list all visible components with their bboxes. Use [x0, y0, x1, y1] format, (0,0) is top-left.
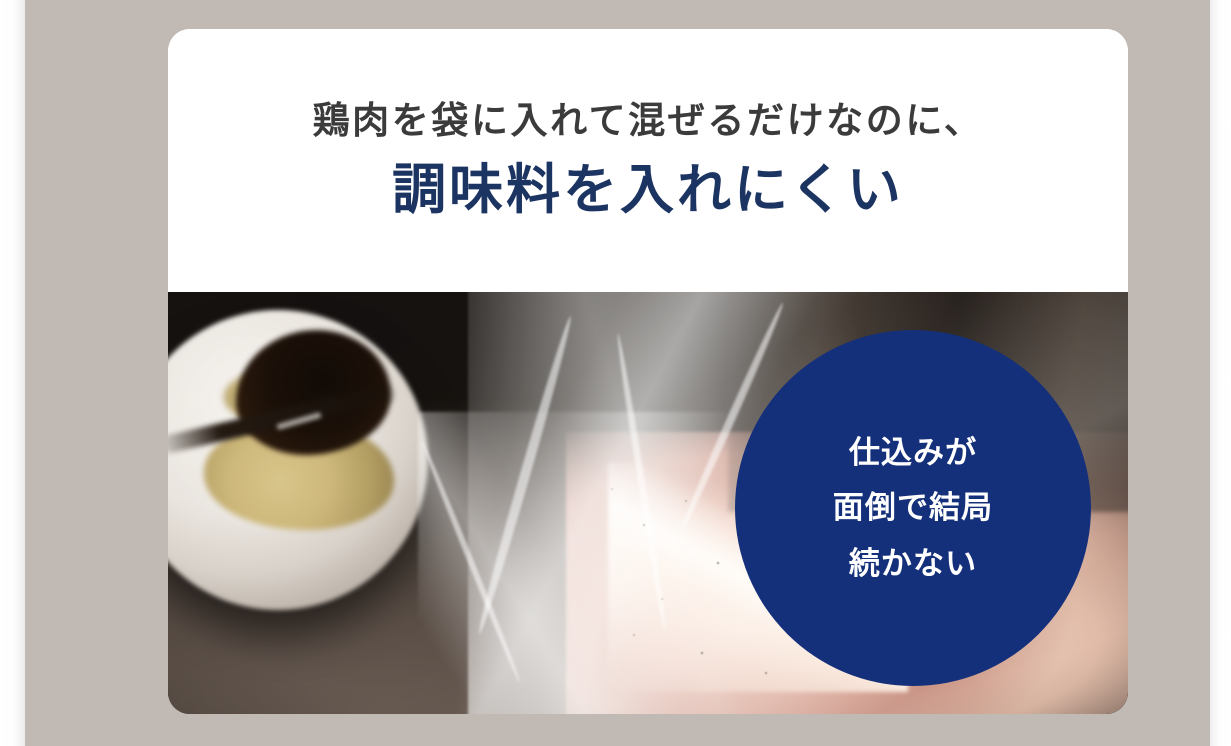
- headline-mainline: 調味料を入れにくい: [392, 158, 904, 223]
- badge-line-1: 仕込みが: [849, 425, 977, 480]
- screenshot-viewport: 鶏肉を袋に入れて混ぜるだけなのに、 調味料を入れにくい: [0, 0, 1231, 746]
- feature-card: 鶏肉を袋に入れて混ぜるだけなのに、 調味料を入れにくい: [168, 29, 1128, 714]
- badge-line-2: 面倒で結局: [833, 480, 993, 535]
- pain-point-badge: 仕込みが 面倒で結局 続かない: [735, 330, 1091, 686]
- left-gutter: [0, 0, 25, 746]
- headline-subline: 鶏肉を袋に入れて混ぜるだけなのに、: [313, 98, 984, 144]
- right-gutter: [1210, 0, 1231, 746]
- card-heading-area: 鶏肉を袋に入れて混ぜるだけなのに、 調味料を入れにくい: [168, 29, 1128, 292]
- badge-line-3: 続かない: [849, 536, 977, 591]
